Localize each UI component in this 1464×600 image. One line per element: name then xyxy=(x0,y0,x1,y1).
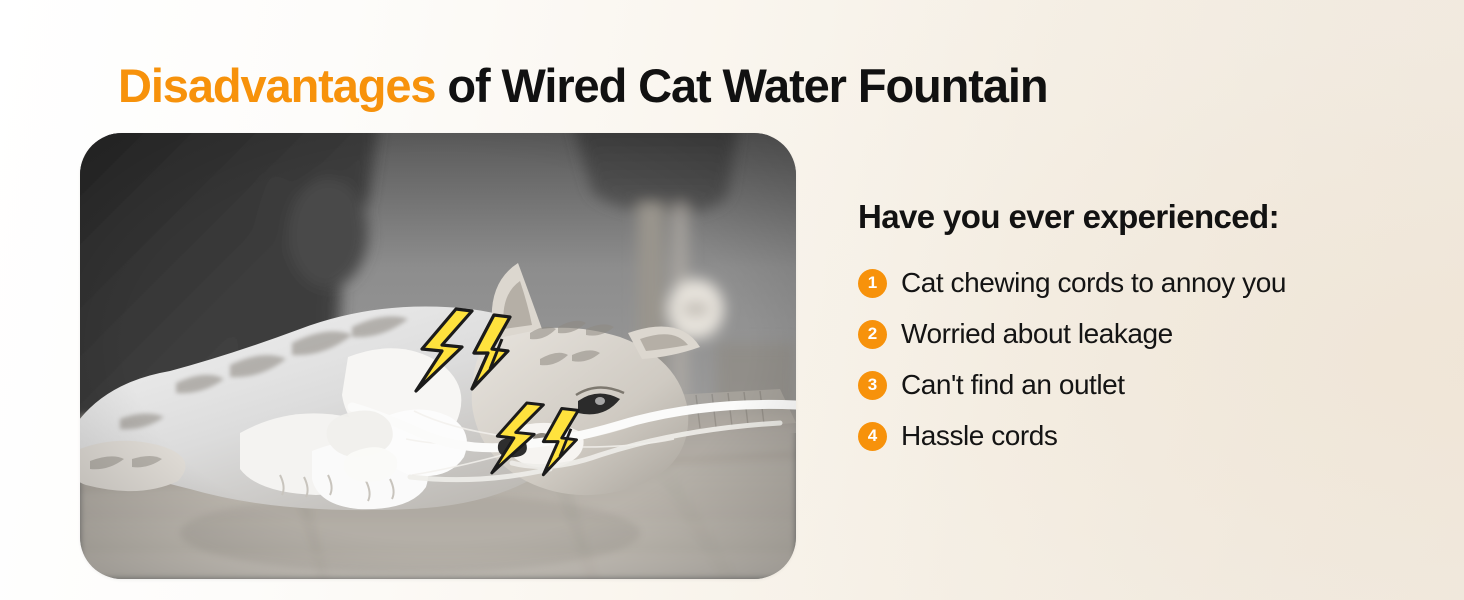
title-rest: of Wired Cat Water Fountain xyxy=(435,59,1047,112)
cat-photo xyxy=(80,133,796,579)
title-highlight: Disadvantages xyxy=(118,59,435,112)
page-title: Disadvantages of Wired Cat Water Fountai… xyxy=(118,61,1047,110)
list-item: 2 Worried about leakage xyxy=(858,309,1418,360)
subheading: Have you ever experienced: xyxy=(858,198,1418,236)
list-item-label: Hassle cords xyxy=(901,420,1057,452)
list-number-badge: 1 xyxy=(858,269,887,298)
list-item: 1 Cat chewing cords to annoy you xyxy=(858,258,1418,309)
list-number-badge: 4 xyxy=(858,422,887,451)
list-item-label: Cat chewing cords to annoy you xyxy=(901,267,1286,299)
list-item-label: Can't find an outlet xyxy=(901,369,1125,401)
list-item: 4 Hassle cords xyxy=(858,411,1418,462)
promo-banner: Disadvantages of Wired Cat Water Fountai… xyxy=(0,0,1464,600)
cat-photo-illustration xyxy=(80,133,796,579)
list-item-label: Worried about leakage xyxy=(901,318,1173,350)
text-column: Have you ever experienced: 1 Cat chewing… xyxy=(858,198,1418,462)
list-item: 3 Can't find an outlet xyxy=(858,360,1418,411)
disadvantages-list: 1 Cat chewing cords to annoy you 2 Worri… xyxy=(858,258,1418,462)
list-number-badge: 2 xyxy=(858,320,887,349)
list-number-badge: 3 xyxy=(858,371,887,400)
